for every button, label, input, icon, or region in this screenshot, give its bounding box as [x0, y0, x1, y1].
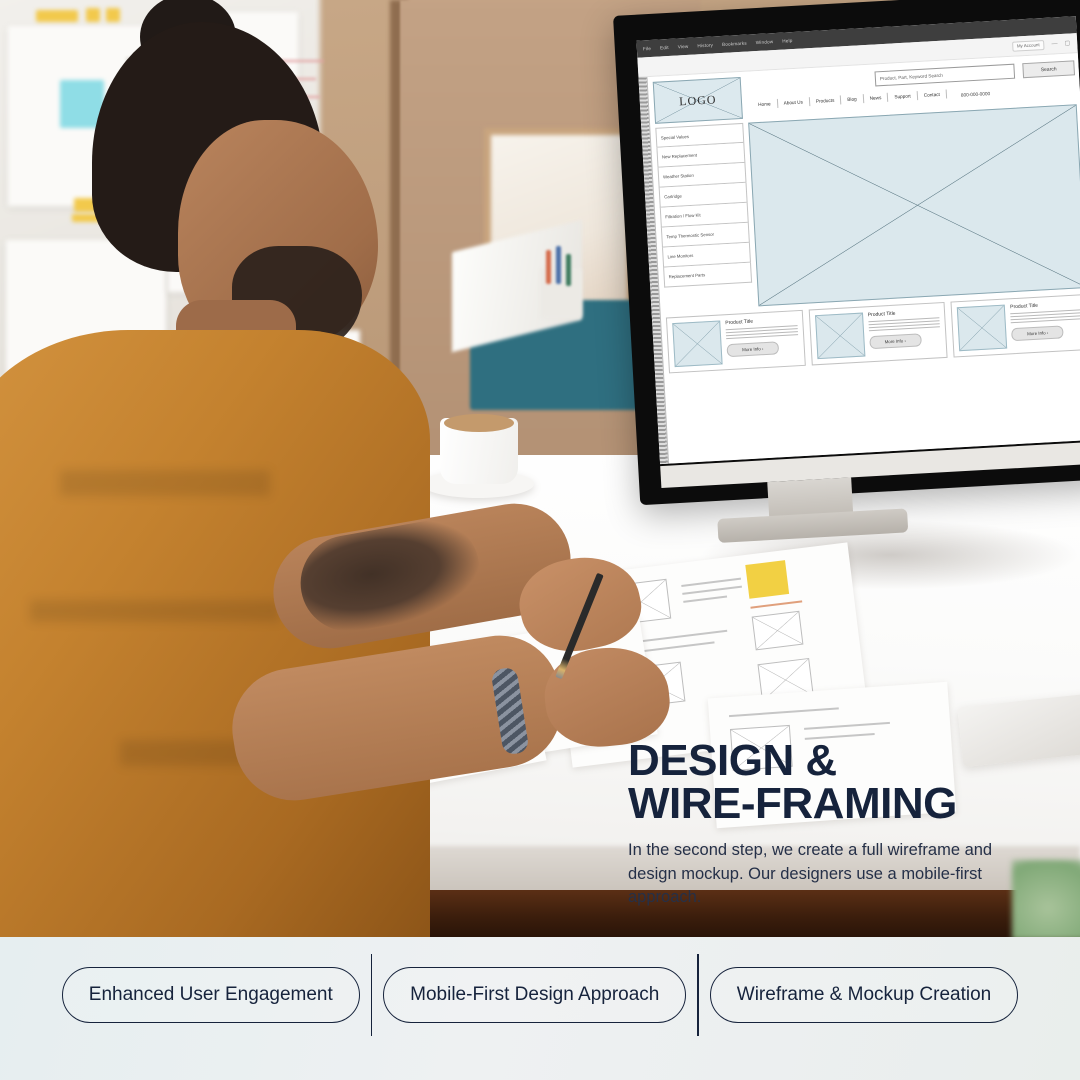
hero-photo: File Edit View History Bookmarks Window … — [0, 0, 1080, 937]
paper-image-placeholder — [752, 611, 804, 651]
headline-line-2: WIRE-FRAMING — [628, 783, 1048, 826]
nav-item-news[interactable]: News — [863, 93, 888, 103]
product-description-lines — [726, 325, 798, 339]
headline-line-1: DESIGN & — [628, 740, 1048, 783]
feature-pill-enhanced-user-engagement[interactable]: Enhanced User Engagement — [62, 967, 360, 1023]
site-search-input[interactable]: Product, Part, Keyword Search — [875, 64, 1016, 87]
logo-text: LOGO — [679, 92, 717, 109]
paper-line — [804, 722, 890, 730]
paper-line — [750, 600, 802, 608]
nav-item-about[interactable]: About Us — [777, 97, 810, 108]
nav-item-home[interactable]: Home — [752, 99, 778, 109]
text-overlay: DESIGN & WIRE-FRAMING In the second step… — [628, 740, 1048, 910]
shirt-fold — [60, 470, 270, 496]
menu-item-file[interactable]: File — [643, 46, 651, 51]
paper-line — [683, 596, 727, 603]
shirt-fold — [30, 600, 280, 622]
monitor-screen: File Edit View History Bookmarks Window … — [636, 16, 1080, 464]
product-card[interactable]: Product Title More Info › — [666, 310, 806, 374]
product-title: Product Title — [1010, 300, 1080, 310]
nav-item-blog[interactable]: Blog — [841, 94, 864, 104]
menu-item-bookmarks[interactable]: Bookmarks — [722, 41, 747, 47]
product-title: Product Title — [868, 308, 940, 318]
feature-pill-group: Enhanced User Engagement Mobile-First De… — [0, 937, 1080, 1052]
nav-item-support[interactable]: Support — [888, 91, 918, 102]
menu-item-help[interactable]: Help — [782, 38, 793, 44]
person-designer — [0, 0, 640, 937]
paper-highlight — [745, 560, 789, 599]
window-icon[interactable]: ▢ — [1064, 40, 1070, 46]
product-card[interactable]: Product Title More Info › — [951, 294, 1080, 358]
feature-pill-wireframe-mockup-creation[interactable]: Wireframe & Mockup Creation — [710, 967, 1018, 1023]
more-info-button[interactable]: More Info › — [869, 333, 922, 349]
feature-pill-mobile-first-design-approach[interactable]: Mobile-First Design Approach — [383, 967, 686, 1023]
product-title: Product Title — [725, 316, 797, 326]
product-image-placeholder — [957, 305, 1007, 352]
paper-line — [681, 578, 741, 587]
product-description-lines — [868, 317, 940, 331]
category-sidebar: Special Values New Replacement Weather S… — [655, 123, 753, 312]
nav-item-products[interactable]: Products — [810, 95, 842, 106]
product-image-placeholder — [815, 313, 865, 360]
body-copy: In the second step, we create a full wir… — [628, 839, 1020, 909]
sidebar-item-7[interactable]: Replacement Parts — [663, 263, 752, 288]
site-logo: LOGO — [653, 77, 743, 124]
product-card[interactable]: Product Title More Info › — [808, 302, 948, 366]
more-info-button[interactable]: More Info › — [1011, 325, 1064, 341]
more-info-button[interactable]: More Info › — [726, 341, 779, 357]
menu-item-window[interactable]: Window — [756, 39, 774, 45]
nav-item-contact[interactable]: Contact — [918, 89, 948, 100]
product-description-lines — [1011, 309, 1080, 323]
pill-divider — [697, 954, 698, 1036]
paper-line — [729, 707, 839, 716]
site-phone[interactable]: 800-000-0000 — [961, 91, 990, 98]
site-search-button[interactable]: Search — [1022, 60, 1075, 78]
wireframe-page: LOGO Product, Part, Keyword Search Searc… — [638, 53, 1080, 464]
desktop-monitor: File Edit View History Bookmarks Window … — [613, 0, 1080, 535]
account-button[interactable]: My Account — [1012, 39, 1045, 51]
headline: DESIGN & WIRE-FRAMING — [628, 740, 1048, 825]
feature-bar: Enhanced User Engagement Mobile-First De… — [0, 937, 1080, 1080]
paper-line — [682, 586, 742, 595]
product-image-placeholder — [672, 320, 722, 367]
minimize-icon[interactable]: — — [1051, 41, 1057, 47]
hero-image-placeholder — [748, 104, 1080, 306]
menu-item-edit[interactable]: Edit — [660, 45, 669, 50]
menu-item-history[interactable]: History — [697, 42, 713, 48]
menu-item-view[interactable]: View — [678, 44, 689, 50]
pill-divider — [371, 954, 372, 1036]
